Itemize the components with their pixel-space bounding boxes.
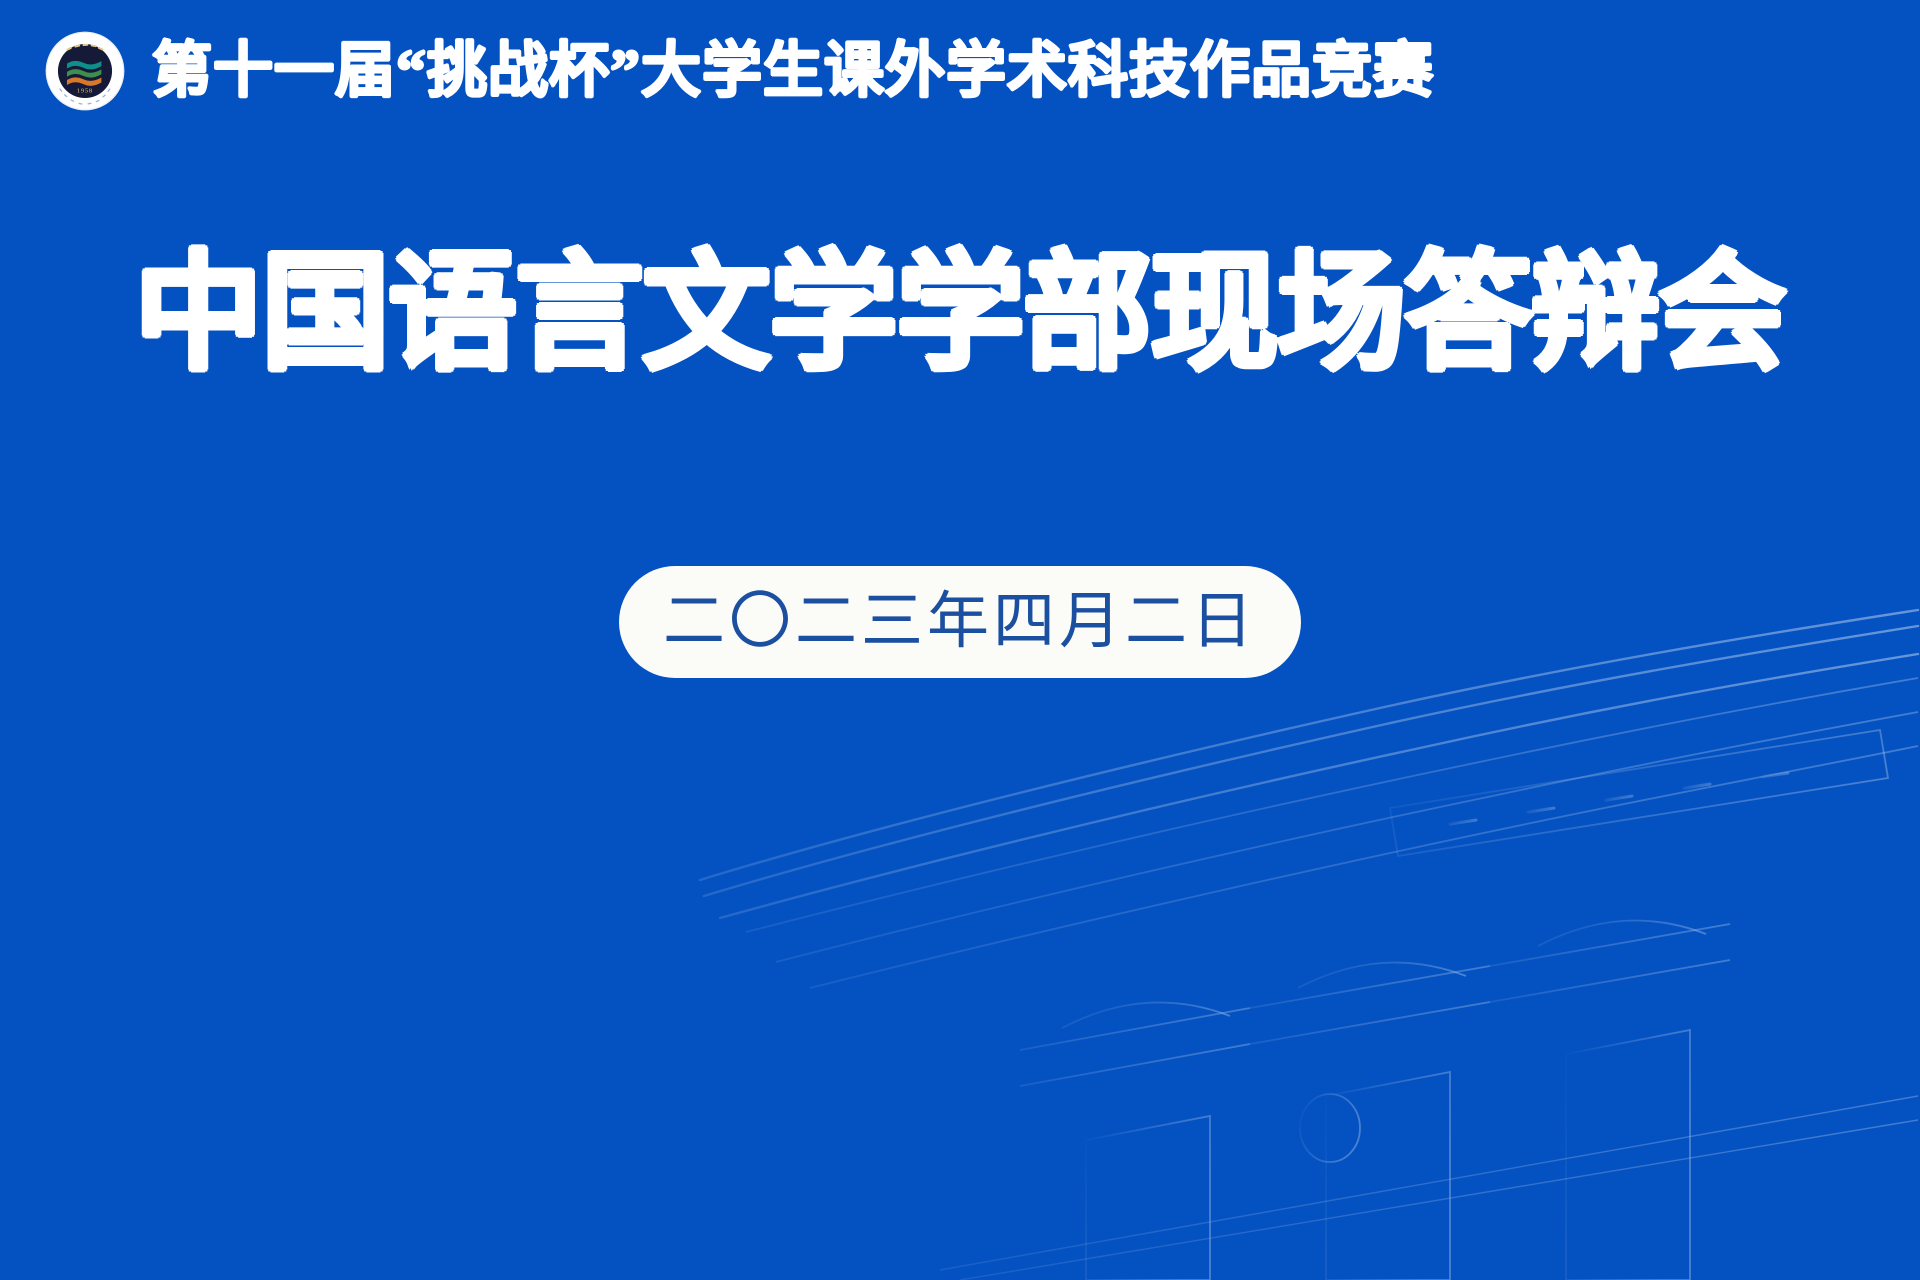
gate-building-watermark <box>690 580 1920 1280</box>
date-badge: 二〇二三年四月二日 <box>619 566 1301 678</box>
slide-header: 1958 第十一届“挑战杯”大学生课外学术科技作品竞赛 <box>44 30 1434 112</box>
date-badge-label: 二〇二三年四月二日 <box>663 591 1257 653</box>
date-badge-wrapper: 二〇二三年四月二日 <box>0 566 1920 678</box>
page-title: 中国语言文学学部现场答辩会 <box>0 238 1920 389</box>
presentation-slide: 1958 第十一届“挑战杯”大学生课外学术科技作品竞赛 中国语言文学学部现场答辩… <box>0 0 1920 1280</box>
university-crest-logo: 1958 <box>44 30 126 112</box>
competition-banner-title: 第十一届“挑战杯”大学生课外学术科技作品竞赛 <box>152 41 1434 101</box>
crest-year: 1958 <box>77 88 93 94</box>
